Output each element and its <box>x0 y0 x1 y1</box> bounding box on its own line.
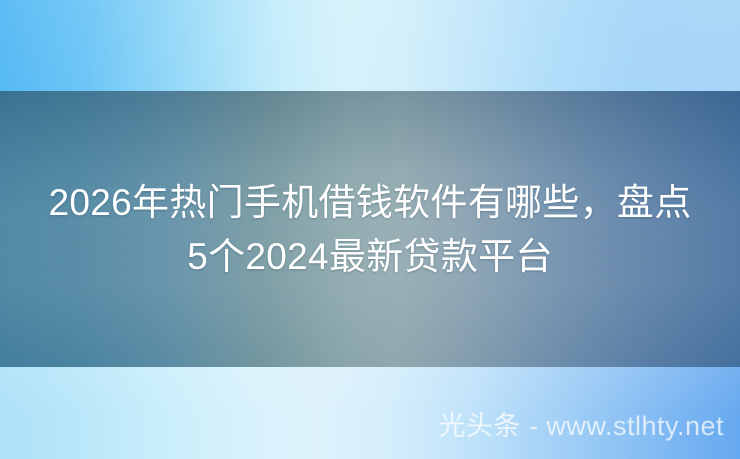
sky-gradient-top-band <box>0 0 740 91</box>
headline-title: 2026年热门手机借钱软件有哪些，盘点5个2024最新贷款平台 <box>0 176 740 284</box>
site-watermark: 光头条 - www.stlhty.net <box>438 409 724 443</box>
cover-image: 2026年热门手机借钱软件有哪些，盘点5个2024最新贷款平台 光头条 - ww… <box>0 0 740 459</box>
